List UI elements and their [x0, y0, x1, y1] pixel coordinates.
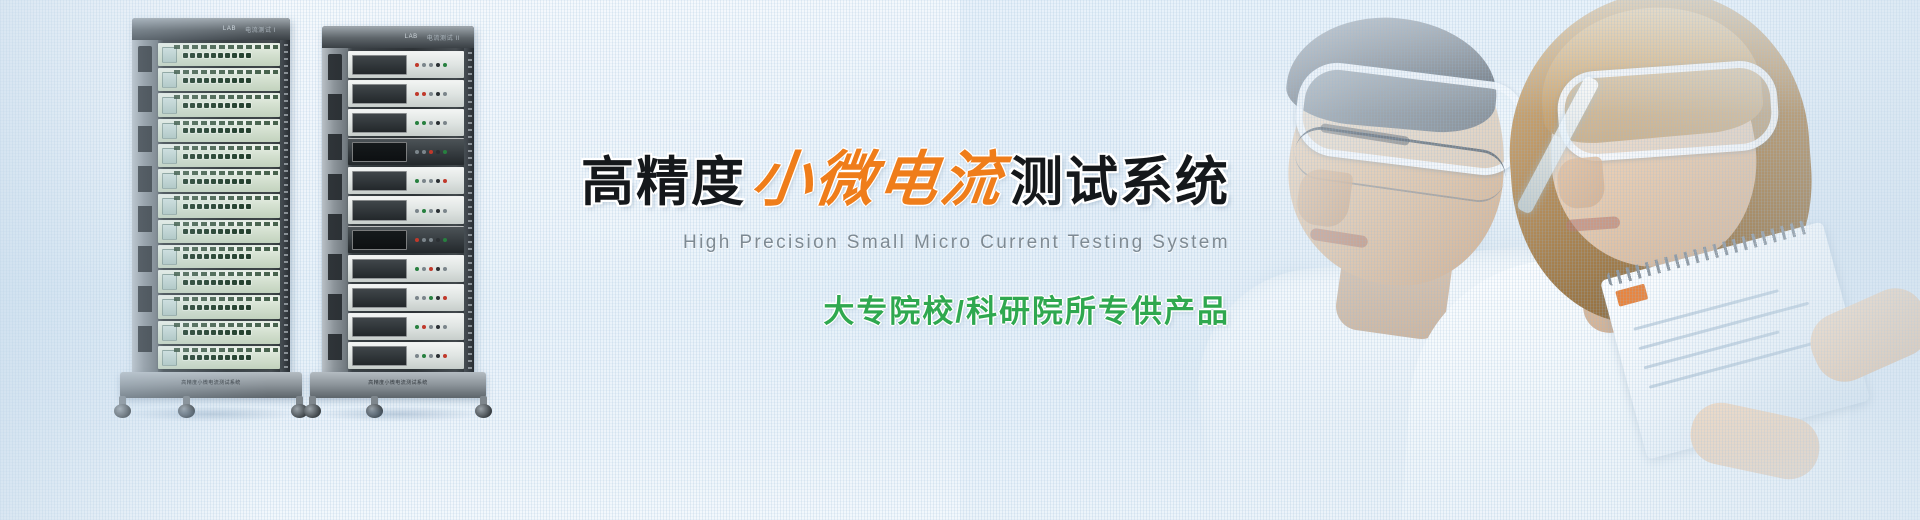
rack-right-rail-right-holes: [468, 52, 472, 372]
rack-left-bay: [158, 40, 280, 372]
rack-right-rail-left: [322, 48, 348, 372]
banner-text-block: 高精度小微电流测试系统 High Precision Small Micro C…: [520, 150, 1230, 331]
unit-knobs: [411, 209, 464, 213]
unit-knobs: [411, 354, 464, 358]
headline-part-3: 测试系统: [1010, 153, 1230, 212]
unit-knobs: [411, 238, 464, 242]
rack-right-bay: [348, 48, 464, 372]
unit-display: [162, 148, 177, 164]
unit-topbar: [174, 171, 278, 175]
banner-headline: 高精度小微电流测试系统: [520, 150, 1230, 210]
rack-left-rail-holes: [138, 46, 152, 366]
unit-display: [352, 55, 407, 75]
unit-topbar: [174, 45, 278, 49]
rack-unit: [158, 220, 280, 243]
rack-unit: [348, 255, 464, 282]
rack-unit: [158, 295, 280, 318]
unit-display: [162, 173, 177, 189]
unit-display: [162, 299, 177, 315]
rack-left-base-label: 高精度小微电流测试系统: [181, 379, 240, 386]
unit-display: [162, 325, 177, 341]
rack-unit: [158, 68, 280, 91]
unit-knobs: [411, 267, 464, 271]
unit-display: [352, 317, 407, 337]
unit-knobs: [411, 325, 464, 329]
unit-display: [352, 230, 407, 250]
rack-unit: [158, 144, 280, 167]
rack-right: LAB 电流测试 II 高精度小微电流测试系统: [322, 26, 474, 418]
rack-unit: [158, 169, 280, 192]
rack-left-base: 高精度小微电流测试系统: [120, 372, 302, 398]
rack-left-model: 电流测试 I: [245, 25, 276, 34]
rack-unit: [348, 342, 464, 369]
rack-unit: [348, 196, 464, 223]
unit-topbar: [174, 272, 278, 276]
rack-left-brand: LAB: [223, 26, 236, 32]
unit-display: [352, 84, 407, 104]
unit-display: [162, 224, 177, 240]
unit-display: [352, 142, 407, 162]
unit-topbar: [174, 121, 278, 125]
rack-unit: [158, 321, 280, 344]
rack-unit: [348, 138, 464, 165]
unit-knobs: [411, 150, 464, 154]
unit-topbar: [174, 247, 278, 251]
unit-knobs: [411, 92, 464, 96]
rack-unit: [158, 346, 280, 369]
banner-subtitle-chinese: 大专院校/科研院所专供产品: [520, 286, 1230, 331]
rack-unit: [158, 194, 280, 217]
unit-topbar: [174, 222, 278, 226]
unit-display: [162, 198, 177, 214]
rack-unit: [158, 93, 280, 116]
rack-unit: [158, 43, 280, 66]
rack-unit: [348, 167, 464, 194]
unit-display: [162, 123, 177, 139]
unit-display: [162, 249, 177, 265]
rack-unit: [348, 80, 464, 107]
unit-knobs: [411, 63, 464, 67]
rack-right-base-label: 高精度小微电流测试系统: [368, 379, 427, 386]
headline-part-1: 高精度: [581, 153, 746, 212]
banner-subtitle-english: High Precision Small Micro Current Testi…: [520, 232, 1230, 254]
unit-topbar: [174, 297, 278, 301]
unit-topbar: [174, 196, 278, 200]
rack-left-top-panel: LAB 电流测试 I: [132, 18, 290, 40]
unit-topbar: [174, 70, 278, 74]
headline-part-2-highlight: 小微电流: [742, 150, 1013, 210]
unit-display: [162, 72, 177, 88]
unit-display: [352, 288, 407, 308]
rack-unit: [348, 313, 464, 340]
rack-unit: [348, 109, 464, 136]
unit-display: [162, 47, 177, 63]
unit-display: [162, 274, 177, 290]
unit-display: [352, 346, 407, 366]
unit-topbar: [174, 348, 278, 352]
rack-unit: [348, 51, 464, 78]
rack-left-shadow: [122, 406, 300, 422]
rack-right-top-panel: LAB 电流测试 II: [322, 26, 474, 48]
rack-left-rail-left: [132, 40, 158, 372]
unit-knobs: [411, 296, 464, 300]
unit-display: [352, 200, 407, 220]
unit-knobs: [411, 179, 464, 183]
unit-topbar: [174, 323, 278, 327]
unit-topbar: [174, 146, 278, 150]
unit-display: [162, 97, 177, 113]
unit-knobs: [411, 121, 464, 125]
rack-right-base: 高精度小微电流测试系统: [310, 372, 486, 398]
product-banner: LAB 电流测试 I 高精度小微电流测试系统: [0, 0, 1920, 520]
rack-unit: [158, 245, 280, 268]
unit-display: [162, 350, 177, 366]
rack-left-rail-right-holes: [284, 44, 288, 372]
rack-right-shadow: [312, 406, 484, 422]
rack-right-model: 电流测试 II: [427, 33, 460, 42]
unit-display: [352, 113, 407, 133]
unit-topbar: [174, 95, 278, 99]
unit-display: [352, 259, 407, 279]
rack-left: LAB 电流测试 I 高精度小微电流测试系统: [132, 18, 290, 418]
rack-right-brand: LAB: [405, 34, 418, 40]
rack-unit: [158, 270, 280, 293]
rack-unit: [348, 284, 464, 311]
rack-right-rail-holes: [328, 54, 342, 366]
rack-unit: [158, 119, 280, 142]
unit-display: [352, 171, 407, 191]
rack-unit: [348, 226, 464, 253]
